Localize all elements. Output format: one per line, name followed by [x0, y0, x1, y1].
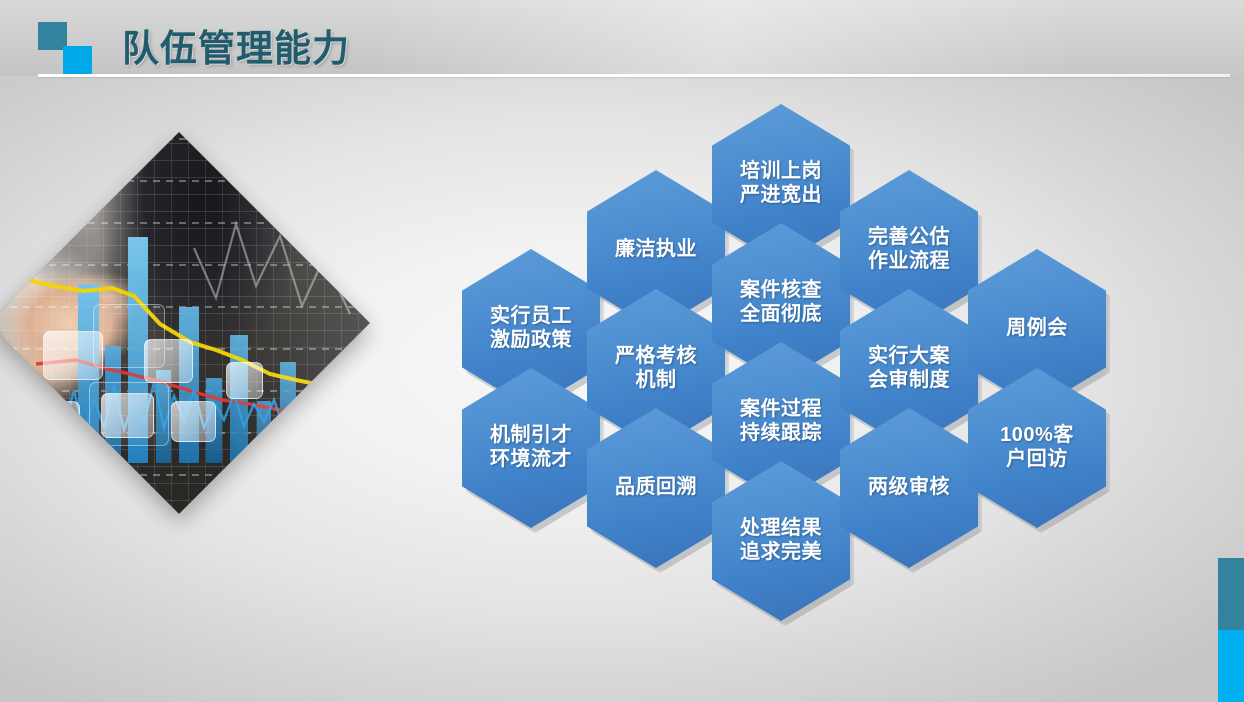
- hexagon-label: 机制引才 环境流才: [484, 424, 578, 471]
- hexagon-label: 实行大案 会审制度: [862, 345, 956, 392]
- accent-teal-block: [1218, 558, 1244, 630]
- hexagon-label: 实行员工 激励政策: [484, 305, 578, 352]
- hexagon-label: 培训上岗 严进宽出: [734, 160, 828, 207]
- hexagon-label: 案件核查 全面彻底: [734, 279, 828, 326]
- accent-cyan-block: [1218, 630, 1244, 702]
- hexagon-label: 100%客 户回访: [994, 424, 1080, 471]
- hexagon-label: 严格考核 机制: [609, 345, 703, 392]
- hexagon-label: 完善公估 作业流程: [862, 226, 956, 273]
- hexagon-label: 周例会: [1000, 317, 1074, 341]
- hexagon-label: 廉洁执业: [609, 238, 703, 262]
- slide-canvas: 队伍管理能力: [0, 0, 1244, 702]
- hexagon-label: 处理结果 追求完美: [734, 517, 828, 564]
- hexagon-cluster: 实行员工 激励政策机制引才 环境流才廉洁执业严格考核 机制品质回溯培训上岗 严进…: [0, 0, 1244, 702]
- corner-accent-bar: [1218, 558, 1244, 702]
- hexagon-label: 两级审核: [862, 476, 956, 500]
- hexagon-label: 品质回溯: [609, 476, 703, 500]
- hexagon-label: 案件过程 持续跟踪: [734, 398, 828, 445]
